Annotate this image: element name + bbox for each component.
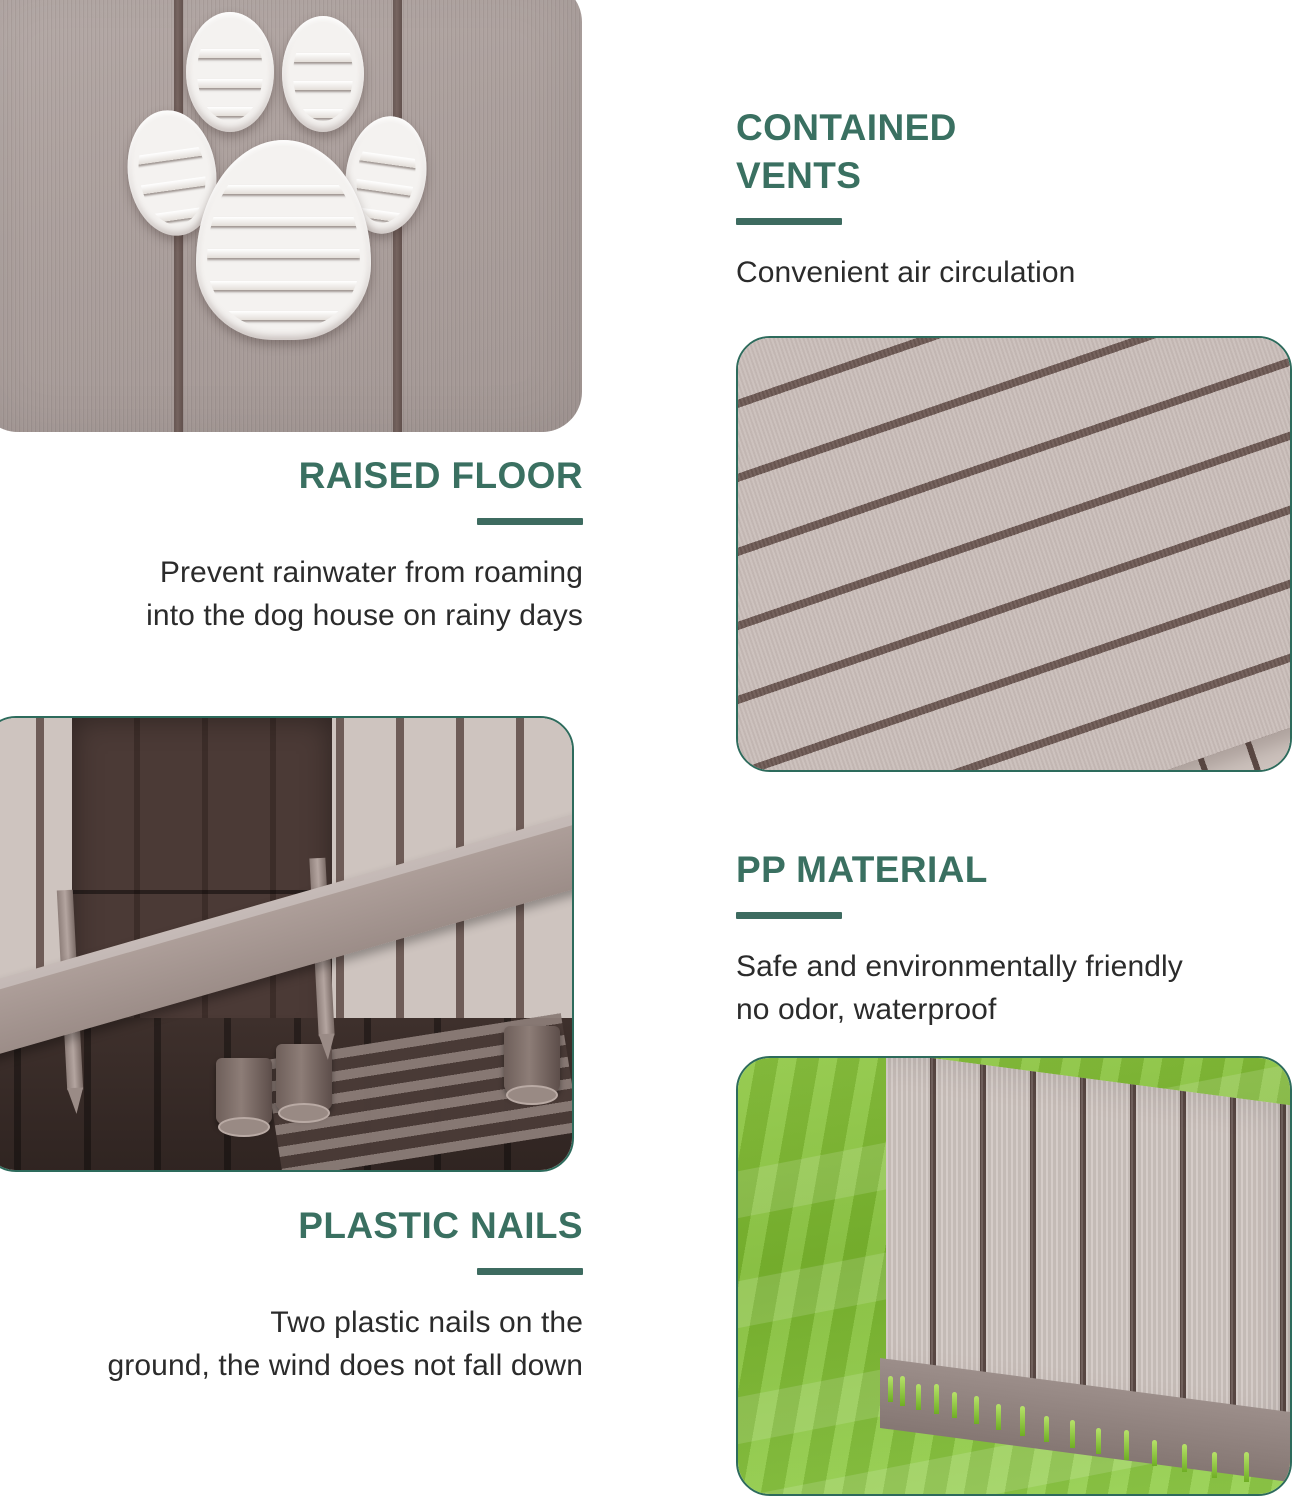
feature-heading: PP MATERIAL (736, 846, 1296, 894)
feature-text-plastic-nails: PLASTIC NAILS Two plastic nails on the g… (20, 1202, 583, 1387)
feature-text-contained-vents: CONTAINED VENTS Convenient air circulati… (736, 104, 1296, 294)
feature-description: Two plastic nails on the ground, the win… (20, 1301, 583, 1387)
heading-rule (736, 218, 842, 225)
feature-description: Prevent rainwater from roaming into the … (20, 551, 583, 637)
heading-rule (477, 1268, 583, 1275)
deck-top-slats (736, 336, 1292, 772)
infographic-canvas: CONTAINED VENTS Convenient air circulati… (0, 0, 1304, 1500)
paw-toe-vent (186, 12, 274, 132)
paw-pad-vent (196, 140, 371, 340)
base-foot (504, 1026, 560, 1098)
raised-floor-image (736, 336, 1292, 772)
feature-description: Safe and environmentally friendly no odo… (736, 945, 1296, 1031)
feature-description: Convenient air circulation (736, 251, 1296, 294)
feature-text-raised-floor: RAISED FLOOR Prevent rainwater from roam… (20, 452, 583, 637)
paw-vent-image (0, 0, 582, 432)
feature-heading: PLASTIC NAILS (20, 1202, 583, 1250)
feature-heading: CONTAINED VENTS (736, 104, 1296, 200)
plastic-nails-image (0, 716, 574, 1172)
base-foot (216, 1058, 272, 1130)
paw-vent-icon (118, 12, 448, 387)
pp-material-image (736, 1056, 1292, 1496)
heading-rule (477, 518, 583, 525)
paw-toe-vent (282, 16, 364, 132)
heading-rule (736, 912, 842, 919)
feature-text-pp-material: PP MATERIAL Safe and environmentally fri… (736, 846, 1296, 1031)
feature-heading: RAISED FLOOR (20, 452, 583, 500)
